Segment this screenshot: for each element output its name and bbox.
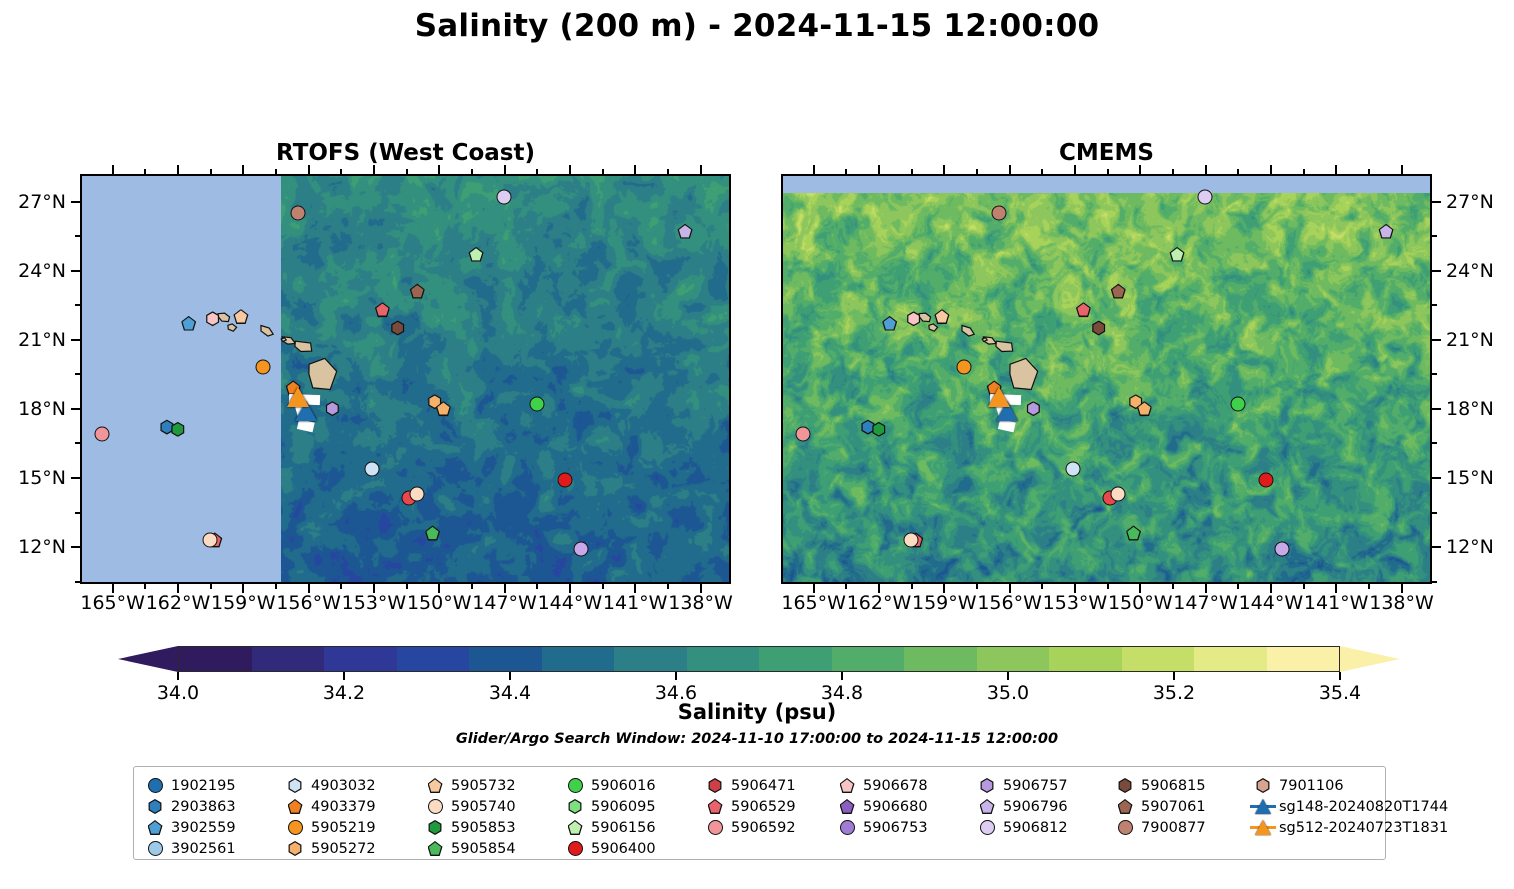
x-tick-minor-top: [406, 169, 408, 174]
x-tick-label: 159°W: [912, 592, 977, 614]
x-tick-minor: [406, 584, 408, 589]
legend-item-symbol: [562, 796, 588, 817]
argo-float-marker[interactable]: [364, 461, 379, 476]
legend-item-label: 5906678: [860, 778, 928, 794]
legend-item-symbol: [562, 838, 588, 859]
legend-item[interactable]: 5906471: [702, 775, 796, 796]
legend-symbol-circle: [708, 820, 723, 835]
y-tick-label: 12°N: [0, 536, 66, 558]
legend-item-symbol: [834, 796, 860, 817]
island-polygon: [309, 358, 337, 389]
x-tick-major-top: [1074, 165, 1076, 174]
marker-fill: [1171, 248, 1183, 260]
legend-item[interactable]: 5905219: [282, 817, 376, 838]
legend-symbol-fill: [569, 800, 581, 812]
marker-fill: [1127, 527, 1139, 539]
x-tick-minor: [1107, 584, 1109, 589]
legend-symbol-fill: [149, 821, 161, 833]
legend-symbol-fill: [1119, 800, 1131, 812]
legend-symbol-fill: [981, 779, 993, 791]
legend-item[interactable]: 7900877: [1112, 817, 1206, 838]
legend[interactable]: 1902195290386339025593902561490303249033…: [133, 766, 1386, 860]
argo-float-marker[interactable]: [1091, 321, 1106, 336]
colorbar-body: [178, 646, 1340, 672]
argo-float-marker[interactable]: [255, 360, 270, 375]
x-tick-label: 144°W: [1239, 592, 1304, 614]
map-panel-rtofs[interactable]: [80, 174, 731, 584]
legend-symbol-circle: [568, 778, 583, 793]
argo-float-marker[interactable]: [882, 316, 897, 331]
argo-float-marker[interactable]: [290, 205, 305, 220]
legend-symbol-pent: [568, 820, 583, 835]
colorbar-segment: [1122, 647, 1195, 671]
marker-fill: [936, 310, 948, 322]
legend-item-label: 5906680: [860, 799, 928, 815]
legend-item-label: 5906815: [1138, 778, 1206, 794]
legend-item-label: 5906471: [728, 778, 796, 794]
x-tick-label: 150°W: [1108, 592, 1173, 614]
island-polygon: [996, 341, 1013, 351]
x-tick-label: 150°W: [407, 592, 472, 614]
x-tick-major-top: [1009, 165, 1011, 174]
y-tick-major: [71, 270, 80, 272]
marker-fill: [884, 317, 896, 329]
x-tick-minor-top: [1237, 169, 1239, 174]
legend-symbol-fill: [429, 821, 441, 833]
colorbar-segment: [832, 647, 905, 671]
x-tick-major-top: [373, 165, 375, 174]
x-tick-minor-top: [536, 169, 538, 174]
legend-column: 590667859066805906753: [834, 775, 928, 838]
marker-fill: [172, 423, 184, 435]
legend-item[interactable]: 5906796: [974, 796, 1068, 817]
y-tick-major: [1432, 477, 1441, 479]
x-tick-label: 156°W: [276, 592, 341, 614]
x-tick-label: 153°W: [342, 592, 407, 614]
legend-item-label: 5906757: [1000, 778, 1068, 794]
legend-symbol-circle: [840, 820, 855, 835]
colorbar-tick: [1007, 672, 1009, 680]
marker-fill: [161, 421, 173, 433]
legend-item[interactable]: sg148-20240820T1744: [1250, 796, 1448, 817]
x-tick-major-top: [1205, 165, 1207, 174]
colorbar-tick: [509, 672, 511, 680]
x-tick-minor-top: [667, 169, 669, 174]
x-tick-minor-top: [1303, 169, 1305, 174]
legend-item-symbol: [142, 817, 168, 838]
legend-symbol-fill: [289, 842, 301, 854]
colorbar[interactable]: 34.034.234.434.634.835.035.235.4: [118, 646, 1400, 672]
marker-overlay-rtofs: [82, 176, 729, 582]
marker-fill: [1380, 225, 1392, 237]
x-tick-minor-top: [340, 169, 342, 174]
x-tick-major-top: [308, 165, 310, 174]
legend-item-symbol: [142, 838, 168, 859]
island-polygon: [282, 337, 295, 344]
legend-column: 7901106sg148-20240820T1744sg512-20240723…: [1250, 775, 1448, 838]
marker-fill: [1077, 303, 1089, 315]
colorbar-segment: [1194, 647, 1267, 671]
y-tick-minor: [1432, 235, 1437, 237]
argo-float-marker[interactable]: [1198, 189, 1213, 204]
legend-item-label: 5905732: [448, 778, 516, 794]
argo-float-marker[interactable]: [1259, 473, 1274, 488]
legend-item-symbol: [974, 817, 1000, 838]
y-tick-label: 15°N: [1446, 467, 1494, 489]
x-tick-minor: [667, 584, 669, 589]
argo-float-marker[interactable]: [573, 542, 588, 557]
marker-fill: [183, 317, 195, 329]
argo-float-marker[interactable]: [469, 247, 484, 262]
x-tick-major-top: [242, 165, 244, 174]
argo-float-marker[interactable]: [1026, 401, 1041, 416]
x-tick-minor: [1303, 584, 1305, 589]
colorbar-label: Salinity (psu): [0, 700, 1514, 724]
legend-item-label: 5905854: [448, 841, 516, 857]
x-tick-major-top: [813, 165, 815, 174]
x-tick-minor: [275, 584, 277, 589]
hawaiian-islands: [783, 176, 1432, 584]
legend-item-symbol: [702, 796, 728, 817]
legend-symbol-hex: [568, 799, 583, 814]
marker-fill: [207, 313, 219, 325]
legend-item-label: sg148-20240820T1744: [1276, 799, 1448, 815]
legend-symbol-pent: [288, 799, 303, 814]
colorbar-segment: [252, 647, 325, 671]
x-tick-minor-top: [1041, 169, 1043, 174]
y-tick-minor: [75, 235, 80, 237]
argo-float-marker[interactable]: [1126, 526, 1141, 541]
argo-float-marker[interactable]: [425, 526, 440, 541]
marker-fill: [1027, 403, 1039, 415]
legend-item-label: 5906529: [728, 799, 796, 815]
legend-item-symbol: [1112, 817, 1138, 838]
y-tick-label: 12°N: [1446, 536, 1494, 558]
legend-item-label: 4903379: [308, 799, 376, 815]
legend-item-symbol: [282, 775, 308, 796]
legend-column: 1902195290386339025593902561: [142, 775, 236, 859]
legend-item[interactable]: 5905854: [422, 838, 516, 859]
subplot-title-rtofs: RTOFS (West Coast): [80, 140, 731, 166]
legend-item-symbol: [422, 838, 448, 859]
argo-float-marker[interactable]: [410, 486, 425, 501]
legend-item[interactable]: 5905853: [422, 817, 516, 838]
legend-item-symbol: [562, 775, 588, 796]
marker-fill: [326, 403, 338, 415]
colorbar-segment: [759, 647, 832, 671]
legend-symbol-fill: [841, 779, 853, 791]
legend-item-label: 5905853: [448, 820, 516, 836]
island-polygon: [982, 338, 987, 342]
colorbar-segment: [904, 647, 977, 671]
legend-symbol-pent: [1118, 799, 1133, 814]
marker-fill: [679, 225, 691, 237]
legend-item[interactable]: 5905272: [282, 838, 376, 859]
colorbar-segment: [1267, 647, 1340, 671]
colorbar-segment: [397, 647, 470, 671]
map-panel-cmems[interactable]: [781, 174, 1432, 584]
island-polygon: [218, 313, 230, 322]
argo-float-marker[interactable]: [1111, 284, 1126, 299]
legend-item[interactable]: 5906678: [834, 775, 928, 796]
legend-item[interactable]: 2903863: [142, 796, 236, 817]
subplot-title-cmems: CMEMS: [781, 140, 1432, 166]
x-tick-minor: [210, 584, 212, 589]
legend-item[interactable]: 3902561: [142, 838, 236, 859]
legend-item[interactable]: 5906757: [974, 775, 1068, 796]
legend-item-label: 7900877: [1138, 820, 1206, 836]
legend-symbol-circle: [980, 820, 995, 835]
legend-item-label: 5906796: [1000, 799, 1068, 815]
y-tick-minor: [75, 512, 80, 514]
legend-symbol-circle: [1118, 820, 1133, 835]
legend-item[interactable]: 5906592: [702, 817, 796, 838]
glider-marker-icon: [1255, 799, 1271, 814]
x-tick-minor-top: [471, 169, 473, 174]
y-tick-major: [1432, 270, 1441, 272]
colorbar-segment: [614, 647, 687, 671]
x-tick-label: 138°W: [668, 592, 733, 614]
argo-float-marker[interactable]: [530, 397, 545, 412]
y-tick-major: [1432, 546, 1441, 548]
legend-item-label: 5907061: [1138, 799, 1206, 815]
legend-item[interactable]: 4903379: [282, 796, 376, 817]
y-tick-major: [71, 201, 80, 203]
x-tick-minor-top: [144, 169, 146, 174]
legend-item-symbol: [834, 817, 860, 838]
legend-symbol-hex: [288, 778, 303, 793]
y-tick-label: 24°N: [1446, 260, 1494, 282]
colorbar-segment: [469, 647, 542, 671]
glider-marker[interactable]: [287, 387, 309, 407]
legend-item-symbol: [1250, 775, 1276, 796]
argo-float-marker[interactable]: [233, 309, 248, 324]
legend-item[interactable]: 5906529: [702, 796, 796, 817]
legend-item-symbol: [282, 817, 308, 838]
legend-item-symbol: [422, 775, 448, 796]
colorbar-tick: [841, 672, 843, 680]
legend-item-symbol: [142, 796, 168, 817]
legend-symbol-circle: [428, 799, 443, 814]
marker-fill: [426, 527, 438, 539]
argo-float-marker[interactable]: [1274, 542, 1289, 557]
argo-float-marker[interactable]: [1170, 247, 1185, 262]
argo-float-marker[interactable]: [181, 316, 196, 331]
legend-symbol-pent: [980, 799, 995, 814]
argo-float-marker[interactable]: [678, 224, 693, 239]
x-tick-minor-top: [210, 169, 212, 174]
legend-item-label: 5905740: [448, 799, 516, 815]
colorbar-segment: [179, 647, 252, 671]
y-tick-minor: [1432, 304, 1437, 306]
argo-float-marker[interactable]: [934, 309, 949, 324]
legend-item-symbol: [702, 817, 728, 838]
legend-item-label: 5906400: [588, 841, 656, 857]
x-tick-major-top: [569, 165, 571, 174]
legend-item-symbol: [702, 775, 728, 796]
colorbar-tick: [1173, 672, 1175, 680]
legend-symbol-hex: [1256, 778, 1271, 793]
colorbar-segment: [324, 647, 397, 671]
x-tick-minor: [1368, 584, 1370, 589]
legend-item-label: 5906095: [588, 799, 656, 815]
argo-float-marker[interactable]: [991, 205, 1006, 220]
legend-item-symbol: [282, 796, 308, 817]
x-tick-minor-top: [1172, 169, 1174, 174]
legend-symbol-pent: [148, 820, 163, 835]
marker-fill: [873, 423, 885, 435]
legend-symbol-fill: [981, 800, 993, 812]
legend-item[interactable]: 3902559: [142, 817, 236, 838]
x-tick-label: 138°W: [1369, 592, 1434, 614]
y-tick-minor: [1432, 442, 1437, 444]
island-polygon: [929, 324, 938, 331]
legend-item[interactable]: 5905732: [422, 775, 516, 796]
y-tick-minor: [1432, 512, 1437, 514]
x-tick-major-top: [1335, 165, 1337, 174]
argo-float-marker[interactable]: [906, 311, 921, 326]
island-polygon: [228, 324, 237, 331]
glider-marker-icon: [1255, 820, 1271, 835]
marker-fill: [376, 303, 388, 315]
colorbar-over-arrow: [1340, 646, 1400, 672]
y-tick-major: [71, 339, 80, 341]
legend-item-symbol: [282, 838, 308, 859]
argo-float-marker[interactable]: [375, 302, 390, 317]
legend-symbol-circle: [148, 778, 163, 793]
legend-column: 5905732590574059058535905854: [422, 775, 516, 859]
x-tick-minor: [602, 584, 604, 589]
legend-item-label: 5906753: [860, 820, 928, 836]
x-tick-minor-top: [602, 169, 604, 174]
legend-item-label: 5905219: [308, 820, 376, 836]
argo-float-marker[interactable]: [325, 401, 340, 416]
legend-item[interactable]: 5905740: [422, 796, 516, 817]
legend-item[interactable]: sg512-20240723T1831: [1250, 817, 1448, 838]
x-tick-label: 141°W: [603, 592, 668, 614]
legend-item-symbol: [1112, 796, 1138, 817]
argo-float-marker[interactable]: [558, 473, 573, 488]
marker-overlay-cmems: [783, 176, 1430, 582]
argo-float-marker[interactable]: [203, 532, 218, 547]
legend-item-label: 5906016: [588, 778, 656, 794]
y-tick-major: [71, 477, 80, 479]
colorbar-tick: [675, 672, 677, 680]
x-tick-minor: [976, 584, 978, 589]
legend-symbol-hex: [980, 778, 995, 793]
argo-float-marker[interactable]: [1379, 224, 1394, 239]
x-tick-minor: [340, 584, 342, 589]
legend-item-label: 2903863: [168, 799, 236, 815]
colorbar-tick: [177, 672, 179, 680]
x-tick-label: 159°W: [211, 592, 276, 614]
argo-float-marker[interactable]: [94, 426, 109, 441]
marker-fill: [1093, 322, 1105, 334]
argo-float-marker[interactable]: [390, 321, 405, 336]
legend-item[interactable]: 5906400: [562, 838, 656, 859]
legend-symbol-hex: [1118, 778, 1133, 793]
legend-symbol-fill: [289, 779, 301, 791]
legend-symbol-pent: [708, 799, 723, 814]
x-tick-major-top: [112, 165, 114, 174]
x-tick-minor: [1041, 584, 1043, 589]
legend-item-label: sg512-20240723T1831: [1276, 820, 1448, 836]
legend-symbol-pent: [428, 841, 443, 856]
x-tick-minor-top: [845, 169, 847, 174]
x-tick-label: 144°W: [538, 592, 603, 614]
legend-item-label: 5906156: [588, 820, 656, 836]
argo-float-marker[interactable]: [1076, 302, 1091, 317]
argo-float-marker[interactable]: [497, 189, 512, 204]
legend-item[interactable]: 5906016: [562, 775, 656, 796]
x-tick-major-top: [1401, 165, 1403, 174]
legend-item[interactable]: 7901106: [1250, 775, 1448, 796]
legend-item[interactable]: 5907061: [1112, 796, 1206, 817]
legend-item[interactable]: 4903032: [282, 775, 376, 796]
argo-float-marker[interactable]: [956, 360, 971, 375]
colorbar-segment: [687, 647, 760, 671]
marker-fill: [1112, 285, 1124, 297]
legend-item[interactable]: 5906680: [834, 796, 928, 817]
x-tick-label: 165°W: [781, 592, 846, 614]
argo-float-marker[interactable]: [410, 284, 425, 299]
colorbar-segment: [1049, 647, 1122, 671]
legend-item-label: 5905272: [308, 841, 376, 857]
y-tick-minor: [1432, 373, 1437, 375]
colorbar-tick: [1339, 672, 1341, 680]
legend-item-symbol: [974, 796, 1000, 817]
argo-float-marker[interactable]: [1231, 397, 1246, 412]
x-tick-minor: [1237, 584, 1239, 589]
y-tick-minor: [1432, 581, 1437, 583]
legend-item-symbol: [1250, 817, 1276, 838]
legend-item[interactable]: 5906815: [1112, 775, 1206, 796]
argo-float-marker[interactable]: [1111, 486, 1126, 501]
legend-item[interactable]: 5906156: [562, 817, 656, 838]
x-tick-label: 165°W: [80, 592, 145, 614]
legend-item[interactable]: 5906812: [974, 817, 1068, 838]
glider-marker[interactable]: [988, 387, 1010, 407]
legend-symbol-fill: [841, 800, 853, 812]
y-tick-label: 24°N: [0, 260, 66, 282]
x-tick-minor: [911, 584, 913, 589]
colorbar-tick: [343, 672, 345, 680]
legend-item-symbol: [1250, 796, 1276, 817]
legend-item[interactable]: 5906095: [562, 796, 656, 817]
y-tick-minor: [75, 373, 80, 375]
argo-float-marker[interactable]: [1065, 461, 1080, 476]
legend-item-label: 5906812: [1000, 820, 1068, 836]
marker-fill: [235, 310, 247, 322]
island-polygon: [919, 313, 931, 322]
legend-item-label: 5906592: [728, 820, 796, 836]
legend-item[interactable]: 1902195: [142, 775, 236, 796]
legend-item-label: 7901106: [1276, 778, 1344, 794]
colorbar-segment: [542, 647, 615, 671]
x-tick-minor-top: [1368, 169, 1370, 174]
argo-float-marker[interactable]: [205, 311, 220, 326]
legend-item-symbol: [974, 775, 1000, 796]
legend-symbol-fill: [289, 800, 301, 812]
legend-column: 5906016590609559061565906400: [562, 775, 656, 859]
argo-float-marker[interactable]: [795, 426, 810, 441]
island-polygon: [295, 341, 312, 351]
argo-float-marker[interactable]: [904, 532, 919, 547]
legend-column: 590647159065295906592: [702, 775, 796, 838]
legend-item[interactable]: 5906753: [834, 817, 928, 838]
legend-symbol-hex: [288, 841, 303, 856]
legend-symbol-circle: [288, 820, 303, 835]
